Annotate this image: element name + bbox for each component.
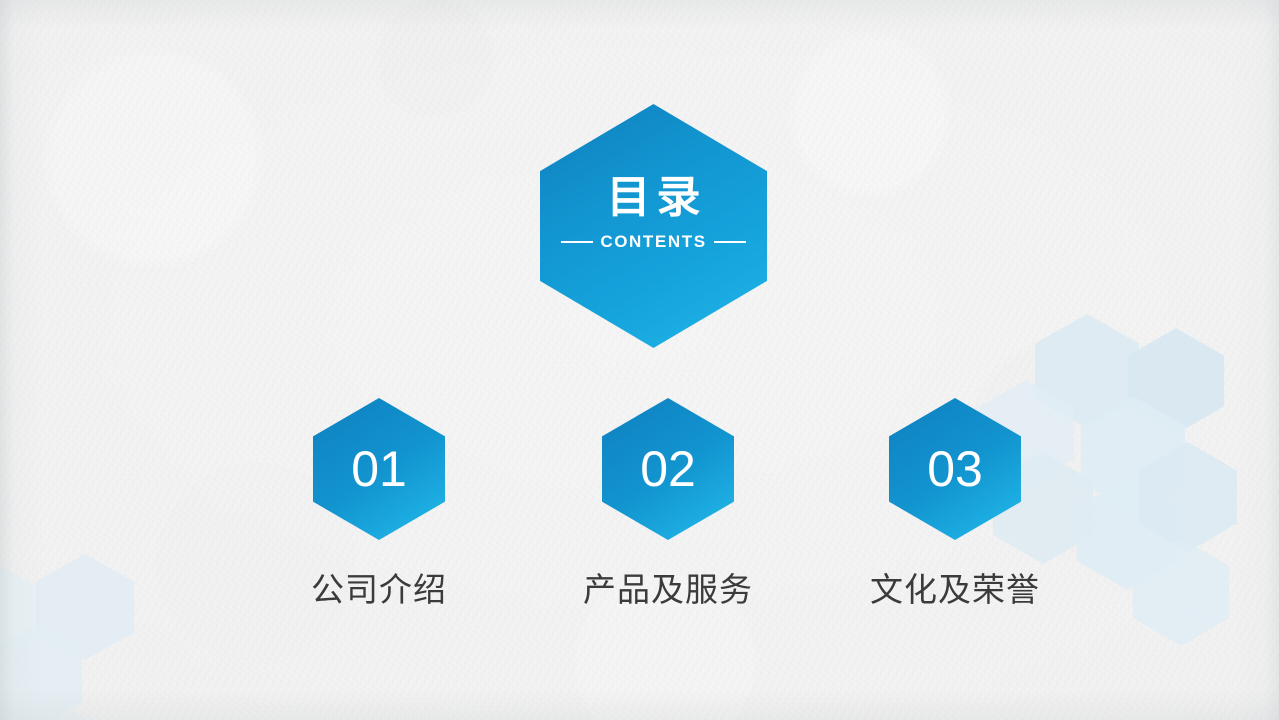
contents-badge: 目录 CONTENTS (540, 104, 767, 348)
toc-item-03-number: 03 (889, 398, 1021, 540)
toc-item-02-label[interactable]: 产品及服务 (543, 572, 793, 608)
contents-badge-inner: 目录 CONTENTS (540, 104, 767, 348)
page-title: 目录 (601, 176, 707, 220)
toc-item-03-badge[interactable]: 03 (889, 398, 1021, 540)
toc-item-03[interactable]: 03 文化及荣誉 (830, 398, 1080, 608)
toc-item-02[interactable]: 02 产品及服务 (543, 398, 793, 608)
toc-item-01-number: 01 (313, 398, 445, 540)
toc-item-01-label[interactable]: 公司介绍 (254, 572, 504, 608)
contents-subtitle: CONTENTS (600, 233, 706, 250)
contents-subtitle-row: CONTENTS (561, 233, 745, 250)
divider-left (561, 241, 593, 243)
toc-item-01-badge[interactable]: 01 (313, 398, 445, 540)
slide-canvas: 目录 CONTENTS 01 公司介绍 02 产品及服务 03 文化及荣誉 (0, 0, 1279, 720)
toc-item-02-number: 02 (602, 398, 734, 540)
toc-item-03-label[interactable]: 文化及荣誉 (830, 572, 1080, 608)
toc-item-01[interactable]: 01 公司介绍 (254, 398, 504, 608)
divider-right (714, 241, 746, 243)
toc-item-02-badge[interactable]: 02 (602, 398, 734, 540)
